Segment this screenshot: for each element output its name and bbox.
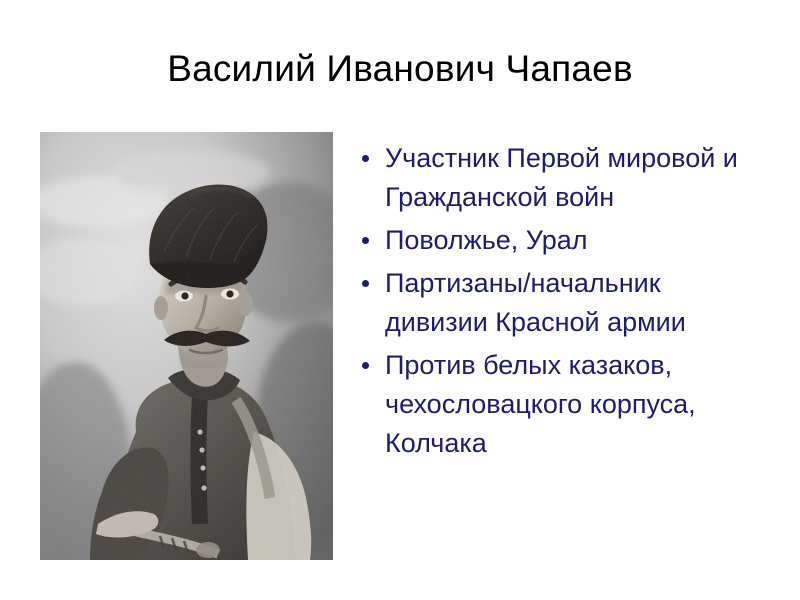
portrait-photo-image [40, 132, 333, 560]
bullet-dot-icon [362, 362, 369, 369]
list-item-label: Поволжье, Урал [385, 221, 765, 260]
list-item: Участник Первой мировой и Гражданской во… [355, 139, 765, 217]
list-item-label: Партизаны/начальник дивизии Красной арми… [385, 264, 765, 342]
list-item: Против белых казаков, чехословацкого кор… [355, 346, 765, 463]
list-item: Поволжье, Урал [355, 221, 765, 260]
presentation-slide: Василий Иванович Чапаев [0, 0, 800, 600]
page-title: Василий Иванович Чапаев [0, 47, 800, 91]
bullet-dot-icon [362, 237, 369, 244]
bullet-dot-icon [362, 280, 369, 287]
list-item: Партизаны/начальник дивизии Красной арми… [355, 264, 765, 342]
list-item-label: Участник Первой мировой и Гражданской во… [385, 139, 765, 217]
bullet-list: Участник Первой мировой и Гражданской во… [355, 139, 765, 463]
portrait-photo [40, 132, 333, 560]
bullet-dot-icon [362, 155, 369, 162]
list-item-label: Против белых казаков, чехословацкого кор… [385, 346, 765, 463]
